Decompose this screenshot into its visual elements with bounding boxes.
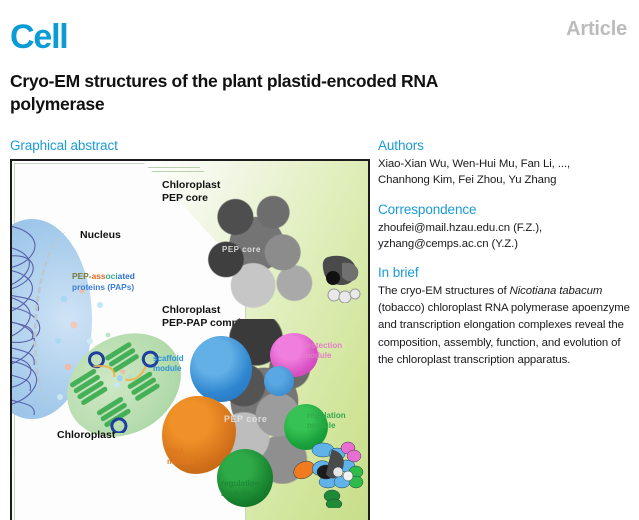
in-brief-text-after: (tobacco) chloroplast RNA polymerase apo… xyxy=(378,302,630,365)
authors-line-1: Xiao-Xian Wu, Wen-Hui Mu, Fan Li, ..., xyxy=(378,158,570,170)
correspondence-email-1[interactable]: zhoufei@mail.hzau.edu.cn (F.Z.), xyxy=(378,222,542,234)
authors-line-2: Chanhong Kim, Fei Zhou, Yu Zhang xyxy=(378,174,556,186)
rna-module-label: RNA module xyxy=(167,447,195,467)
pap-label-line2: proteins (PAPs) xyxy=(72,282,134,292)
scaffold-module-label: scaffold module xyxy=(153,354,184,374)
article-type-label: Article xyxy=(566,18,627,41)
authors-heading: Authors xyxy=(378,138,630,153)
pep-core-watermark-top: PEP core xyxy=(222,245,261,254)
species-name: Nicotiana tabacum xyxy=(510,285,603,297)
regulation-module-label-right: regulation module xyxy=(307,411,346,431)
pap-label-part-2: ass xyxy=(92,271,106,281)
graphical-abstract-column: Graphical abstract xyxy=(10,138,370,520)
metadata-column: Authors Xiao-Xian Wu, Wen-Hui Mu, Fan Li… xyxy=(378,138,630,382)
correspondence-block: Correspondence zhoufei@mail.hzau.edu.cn … xyxy=(378,202,630,253)
in-brief-block: In brief The cryo-EM structures of Nicot… xyxy=(378,265,630,369)
nucleus-label: Nucleus xyxy=(80,229,121,241)
chloroplast-label: Chloroplast xyxy=(57,429,115,441)
authors-list: Xiao-Xian Wu, Wen-Hui Mu, Fan Li, ..., C… xyxy=(378,156,630,189)
graphical-abstract-heading: Graphical abstract xyxy=(10,138,370,153)
in-brief-text-before: The cryo-EM structures of xyxy=(378,285,510,297)
in-brief-heading: In brief xyxy=(378,265,630,280)
protection-module-label: protection module xyxy=(303,341,342,361)
pap-label: PEP-associated proteins (PAPs) xyxy=(72,271,135,293)
scaffold-module-structure xyxy=(190,336,252,402)
correspondence-email-2[interactable]: yzhang@cemps.ac.cn (Y.Z.) xyxy=(378,238,518,250)
pap-label-part-3: oci xyxy=(106,271,118,281)
pep-pap-schematic-icon xyxy=(290,436,370,508)
pep-core-watermark-complex: PEP core xyxy=(224,414,267,424)
graphical-abstract-figure: Nucleus Chloroplast PEP-associated prote… xyxy=(10,159,370,520)
paper-first-page: Cell Article Cryo-EM structures of the p… xyxy=(0,0,639,520)
pap-label-part-4: ated xyxy=(118,271,135,281)
cell-journal-logo: Cell xyxy=(10,20,68,54)
page-title: Cryo-EM structures of the plant plastid-… xyxy=(10,70,440,116)
regulation-module-label-bottom: regulation module xyxy=(221,479,260,499)
pep-core-cartoon-icon xyxy=(312,253,368,303)
chloroplast-pep-core-heading: Chloroplast PEP core xyxy=(162,179,220,205)
in-brief-text: The cryo-EM structures of Nicotiana taba… xyxy=(378,283,630,369)
correspondence-emails: zhoufei@mail.hzau.edu.cn (F.Z.), yzhang@… xyxy=(378,220,630,253)
authors-block: Authors Xiao-Xian Wu, Wen-Hui Mu, Fan Li… xyxy=(378,138,630,189)
correspondence-heading: Correspondence xyxy=(378,202,630,217)
pap-label-part-1: PEP- xyxy=(72,271,92,281)
scaffold-module-structure-secondary xyxy=(264,366,294,396)
